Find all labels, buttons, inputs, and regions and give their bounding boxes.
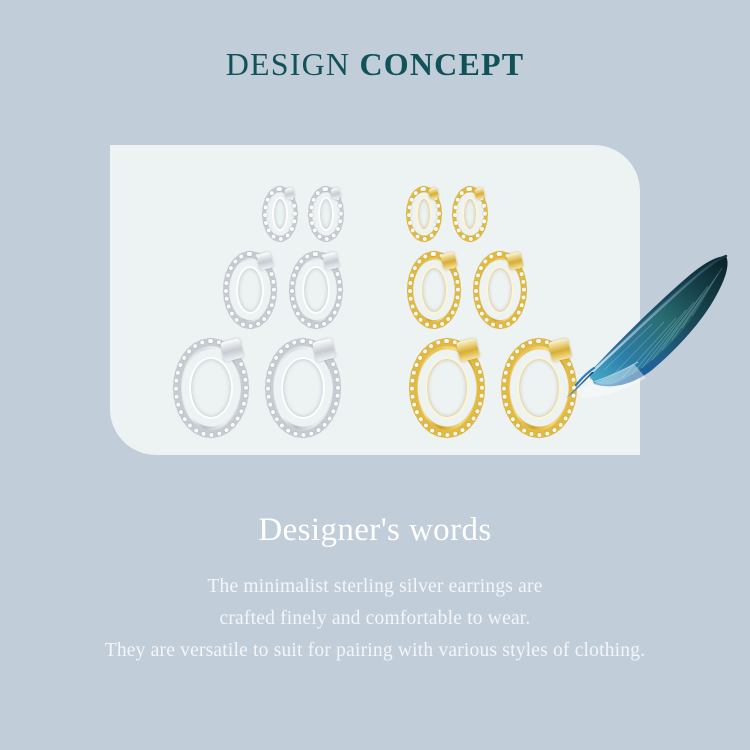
earring-slot[interactable] (493, 338, 585, 438)
hoop-clasp (322, 252, 339, 271)
earring-row-large (110, 335, 640, 441)
small-gold-hoop-right-icon (452, 186, 488, 242)
hoop-inner-rim (420, 266, 448, 314)
page-title-block: DESIGN CONCEPT (0, 46, 750, 83)
large-silver-hoop-left-icon (173, 338, 249, 438)
earring-slot[interactable] (401, 251, 467, 329)
earring-slot[interactable] (283, 251, 349, 329)
hoop-clasp (440, 252, 457, 271)
hoop-inner-rim (318, 197, 334, 231)
hoop-inner-rim (302, 266, 330, 314)
earring-slot[interactable] (401, 338, 493, 438)
designer-words-block: Designer's words The minimalist sterling… (0, 512, 750, 667)
medium-silver-hoop-right-icon (289, 251, 343, 329)
earring-slot[interactable] (257, 186, 303, 242)
large-gold-hoop-left-icon (409, 338, 485, 438)
earring-pair-silver-small (257, 186, 349, 242)
designer-words-line-2: crafted finely and comfortable to wear. (0, 603, 750, 635)
hoop-inner-rim (272, 197, 288, 231)
small-silver-hoop-left-icon (262, 186, 298, 242)
hoop-inner-rim (236, 266, 264, 314)
hoop-inner-rim (281, 357, 325, 419)
earring-pair-silver-medium (217, 251, 349, 329)
small-gold-hoop-left-icon (406, 186, 442, 242)
earring-slot[interactable] (467, 251, 533, 329)
earring-row-medium (110, 249, 640, 331)
hoop-clasp (506, 252, 523, 271)
page-title-bold: CONCEPT (359, 46, 524, 82)
earring-grid (110, 145, 640, 455)
hoop-inner-rim (416, 197, 432, 231)
medium-silver-hoop-left-icon (223, 251, 277, 329)
designer-words-line-1: The minimalist sterling silver earrings … (0, 571, 750, 603)
hoop-inner-rim (486, 266, 514, 314)
earring-pair-silver-large (165, 338, 349, 438)
earring-slot[interactable] (165, 338, 257, 438)
hoop-clasp (256, 252, 273, 271)
designer-words-heading: Designer's words (0, 512, 750, 549)
earring-slot[interactable] (303, 186, 349, 242)
page-title-light: DESIGN (226, 46, 351, 82)
earring-slot[interactable] (257, 338, 349, 438)
page-title: DESIGN CONCEPT (0, 46, 750, 83)
earring-pair-gold-small (401, 186, 493, 242)
medium-gold-hoop-right-icon (473, 251, 527, 329)
product-image-card (110, 145, 640, 455)
hoop-inner-rim (462, 197, 478, 231)
large-silver-hoop-right-icon (265, 338, 341, 438)
earring-slot[interactable] (447, 186, 493, 242)
earring-slot[interactable] (217, 251, 283, 329)
earring-pair-gold-large (401, 338, 585, 438)
earring-pair-gold-medium (401, 251, 533, 329)
hoop-inner-rim (425, 357, 469, 419)
hoop-inner-rim (189, 357, 233, 419)
earring-slot[interactable] (401, 186, 447, 242)
small-silver-hoop-right-icon (308, 186, 344, 242)
earring-row-small (110, 183, 640, 245)
designer-words-line-3: They are versatile to suit for pairing w… (0, 635, 750, 667)
hoop-inner-rim (517, 357, 561, 419)
large-gold-hoop-right-icon (501, 338, 577, 438)
medium-gold-hoop-left-icon (407, 251, 461, 329)
